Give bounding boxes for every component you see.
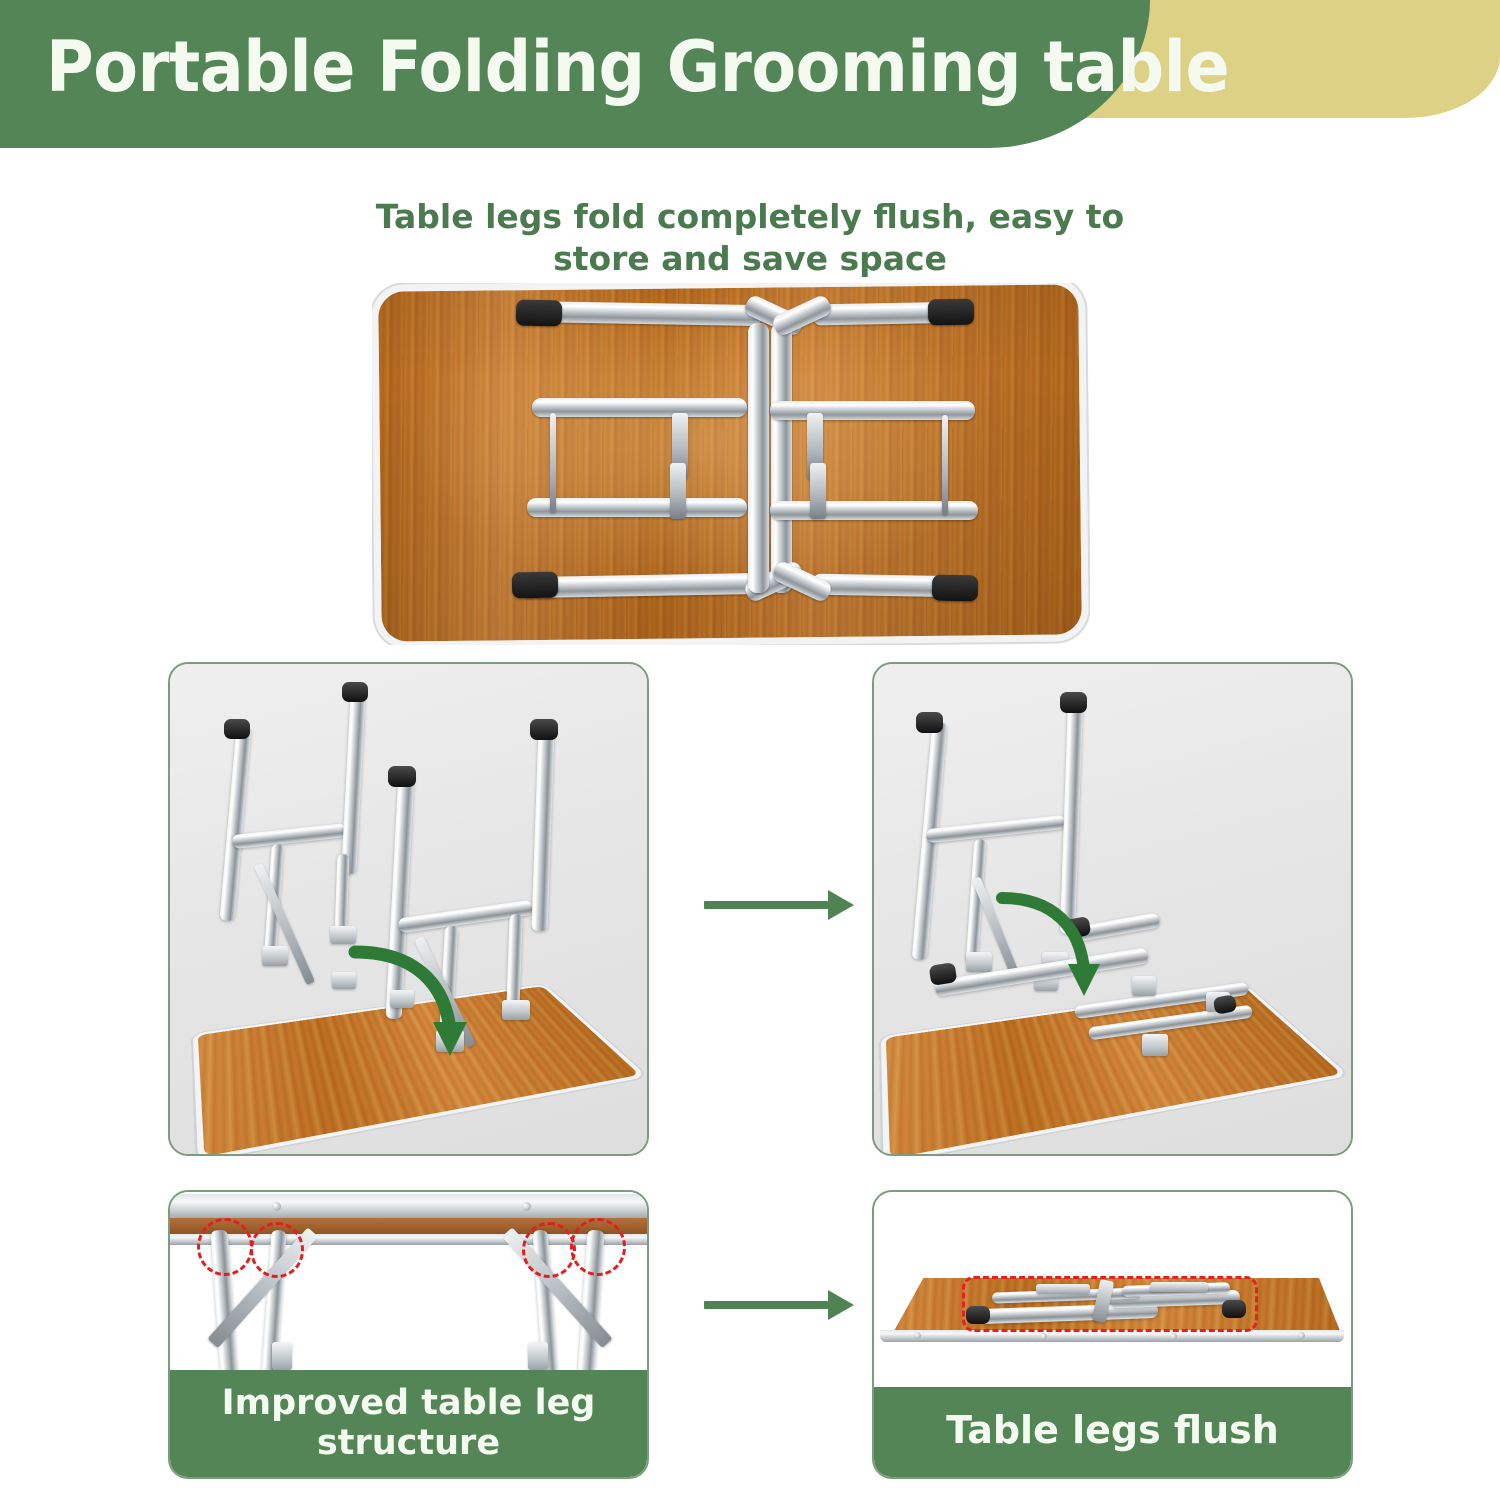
leg-a-foot-left — [224, 719, 250, 739]
support-strut-left — [550, 413, 556, 513]
detail-caption-table-legs-flush: Table legs flush — [874, 1387, 1351, 1477]
hinge-highlight-circle-4 — [570, 1218, 626, 1276]
step-panel-one-leg-folded — [872, 662, 1353, 1156]
upright-leg-mount-left — [966, 952, 992, 972]
subtitle-line-2: store and save space — [250, 238, 1250, 280]
cross-rail-upper-left — [532, 398, 747, 417]
step-panel-legs-upright — [168, 662, 649, 1156]
leg-frame-upper-vertical — [771, 323, 792, 593]
folded-leg-mount-1 — [1132, 976, 1156, 996]
subtitle: Table legs fold completely flush, easy t… — [250, 196, 1250, 279]
foot-cap-lower-right — [932, 575, 978, 602]
detail-flow-arrow-shaft — [704, 1301, 828, 1309]
support-strut-right — [942, 415, 948, 515]
step-flow-arrow-shaft — [704, 901, 828, 909]
hero-product-photo — [372, 283, 1090, 645]
hinge-highlight-circle-3 — [522, 1222, 576, 1278]
leg-a-diagonal-brace — [254, 863, 315, 985]
step-panel-photo-2 — [874, 664, 1351, 1154]
detail-caption-improved-leg-structure: Improved table leg structure — [170, 1370, 647, 1478]
curved-fold-arrow-2 — [992, 886, 1112, 1006]
flush-screw-2 — [1040, 1333, 1047, 1340]
hinge-highlight-circle-2 — [250, 1222, 304, 1278]
detail-flow-arrow-head — [828, 1290, 854, 1320]
step-flow-arrow — [704, 890, 854, 920]
detail-panel-improved-leg-structure: Improved table leg structure — [168, 1190, 649, 1479]
detail-panel-table-legs-flush: Table legs flush — [872, 1190, 1353, 1479]
upright-leg-foot-right — [1060, 692, 1087, 713]
page-title: Portable Folding Grooming table — [46, 32, 1229, 102]
detail-brace-hub-left — [272, 1342, 292, 1370]
upright-leg-foot-left — [916, 712, 943, 733]
leg-b-post-right — [531, 726, 554, 931]
screw-1 — [272, 1202, 281, 1211]
cross-rail-lower-left — [527, 498, 747, 517]
detail-flow-arrow — [704, 1290, 854, 1320]
leg-b-mount-right — [502, 1000, 530, 1020]
leg-frame-right-vertical — [748, 323, 769, 593]
leg-a-inner-post-right — [335, 854, 350, 934]
leg-b-foot-left — [388, 766, 416, 787]
leg-a-top-rail — [232, 823, 348, 849]
flush-screw-4 — [1298, 1332, 1305, 1339]
table-underside-rail — [170, 1194, 647, 1220]
hinge-highlight-circle-1 — [197, 1218, 253, 1276]
subtitle-line-1: Table legs fold completely flush, easy t… — [250, 196, 1250, 238]
hinge-bracket-3 — [670, 463, 686, 519]
flush-highlight-box — [962, 1276, 1258, 1332]
foot-cap-lower-left — [512, 572, 558, 599]
folded-leg-mount-3 — [1142, 1034, 1168, 1056]
upright-leg-top-rail — [926, 815, 1067, 844]
leg-b-foot-right — [530, 719, 558, 740]
curved-fold-arrow-1 — [345, 934, 475, 1064]
leg-a-post-right — [341, 689, 366, 875]
foot-cap-upper-left — [516, 300, 562, 327]
flush-screw-3 — [1170, 1333, 1177, 1340]
leg-a-mount-left — [262, 946, 288, 966]
step-flow-arrow-head — [828, 890, 854, 920]
leg-a-post-left — [220, 726, 252, 922]
detail-brace-hub-right — [528, 1342, 548, 1370]
foot-cap-upper-right — [928, 299, 974, 326]
flush-screw-1 — [914, 1332, 921, 1339]
leg-a-foot-right — [342, 682, 368, 702]
page-header: Portable Folding Grooming table — [0, 0, 1500, 160]
screw-2 — [522, 1202, 531, 1211]
step-panel-photo-1 — [170, 664, 647, 1154]
hinge-bracket-4 — [810, 463, 826, 519]
